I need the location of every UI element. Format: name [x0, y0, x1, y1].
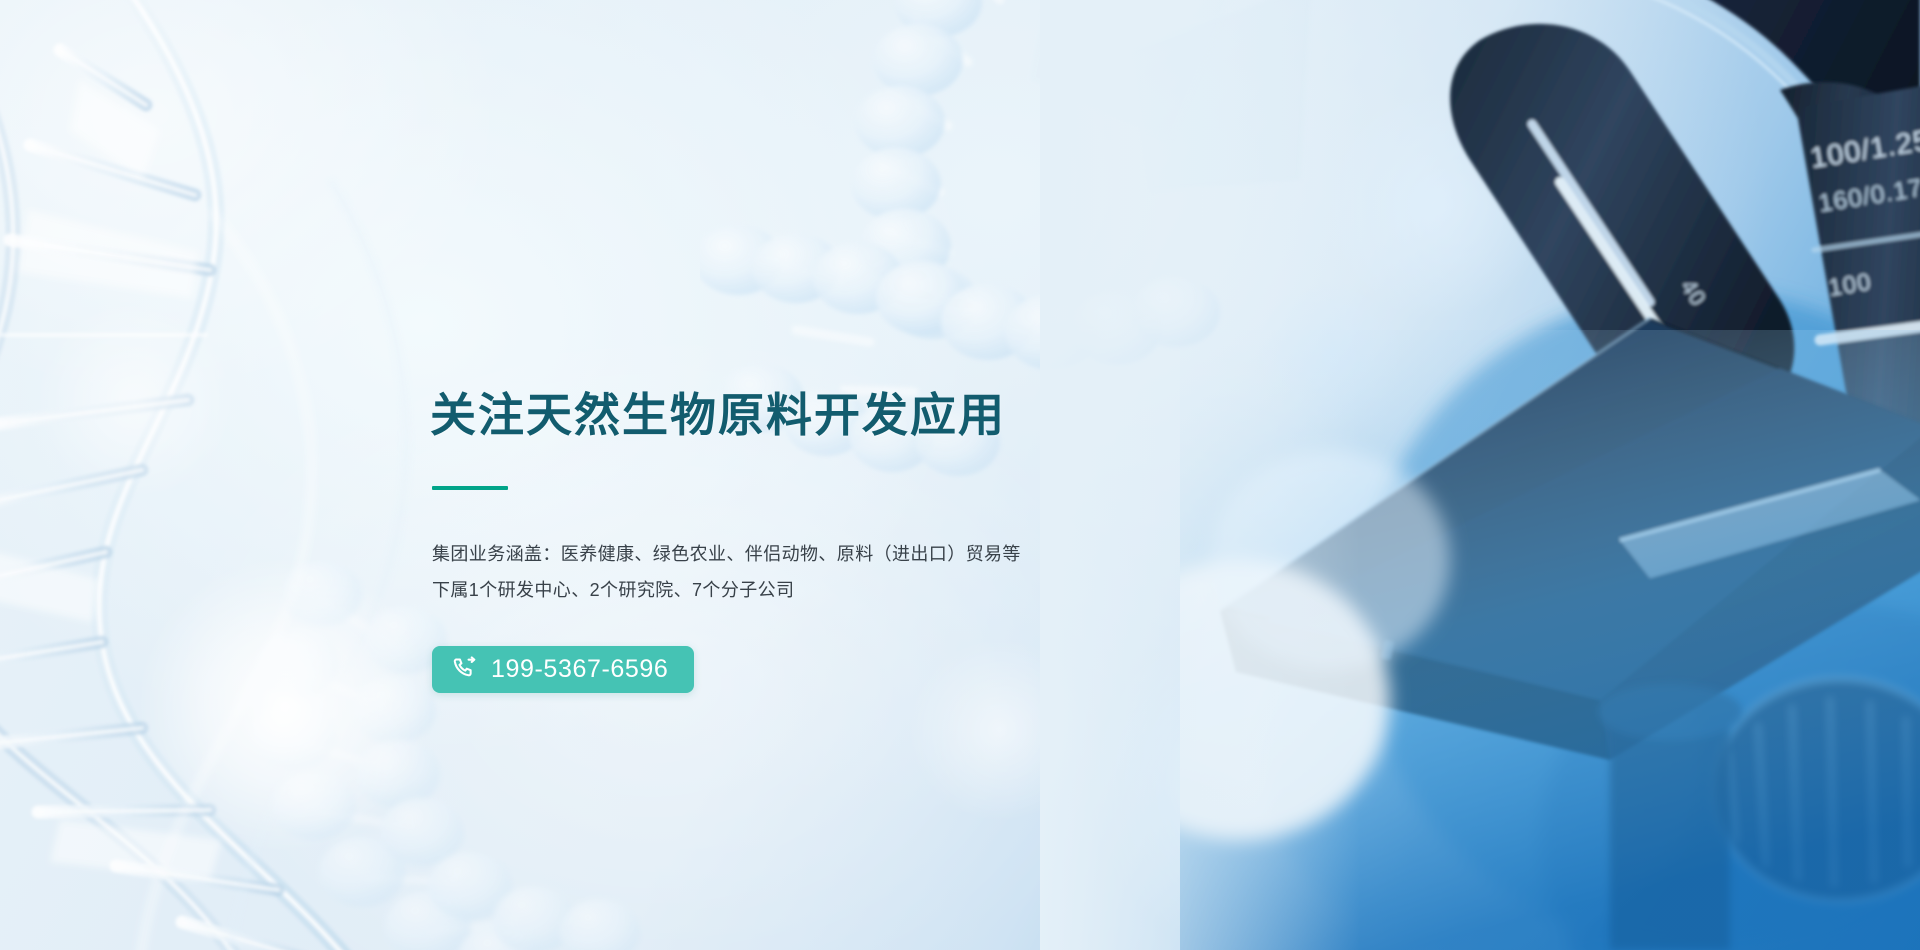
- hero-headline: 关注天然生物原料开发应用: [430, 390, 1250, 442]
- microscope-graphic: 40 100/1.25 160/0.17 100: [1180, 0, 1920, 950]
- hero-subtitle: 集团业务涵盖：医养健康、绿色农业、伴侣动物、原料（进出口）贸易等 下属1个研发中…: [432, 536, 1250, 608]
- phone-forward-icon: [452, 656, 478, 682]
- phone-cta-button[interactable]: 199-5367-6596: [432, 646, 694, 693]
- accent-rule: [432, 486, 508, 490]
- subtitle-line-1: 集团业务涵盖：医养健康、绿色农业、伴侣动物、原料（进出口）贸易等: [432, 536, 1250, 572]
- hero-content: 关注天然生物原料开发应用 集团业务涵盖：医养健康、绿色农业、伴侣动物、原料（进出…: [430, 390, 1250, 693]
- phone-number-label: 199-5367-6596: [491, 657, 668, 682]
- subtitle-line-2: 下属1个研发中心、2个研究院、7个分子公司: [432, 572, 1250, 608]
- hero-banner: 40 100/1.25 160/0.17 100: [0, 0, 1920, 950]
